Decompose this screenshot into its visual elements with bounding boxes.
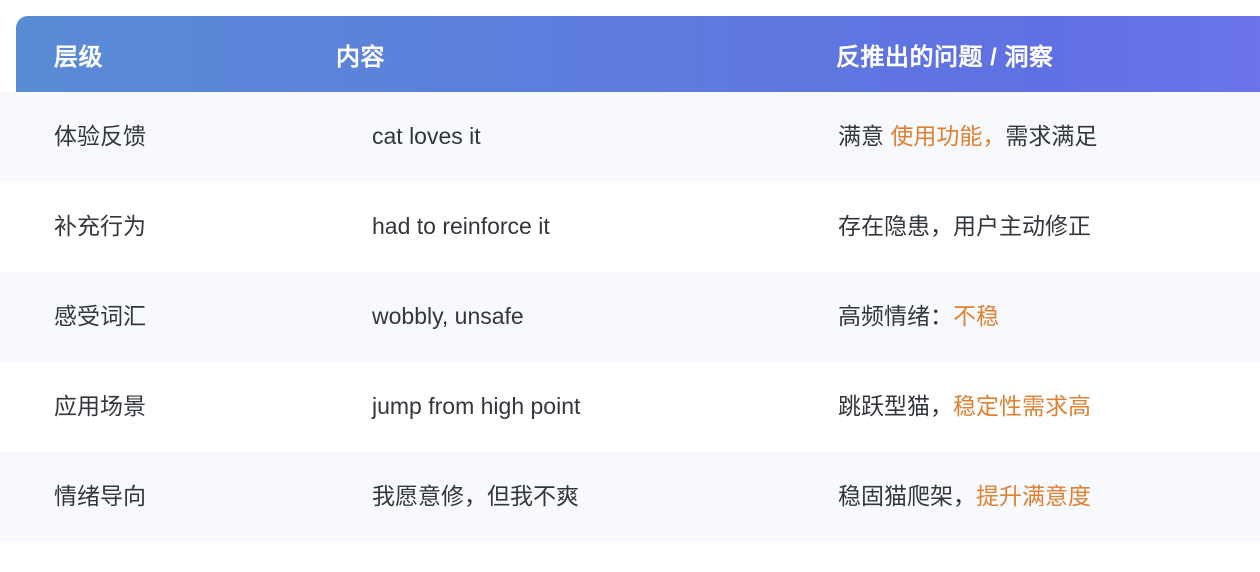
cell-level: 情绪导向 [0, 481, 320, 512]
column-header-level: 层级 [16, 37, 336, 72]
insight-text-highlight: 使用功能， [890, 123, 1005, 149]
table-header-row: 层级 内容 反推出的问题 / 洞察 [16, 16, 1260, 92]
table-row: 应用场景 jump from high point 跳跃型猫，稳定性需求高 [0, 362, 1260, 452]
cell-level: 体验反馈 [0, 121, 320, 152]
table-row: 体验反馈 cat loves it 满意 使用功能，需求满足 [0, 92, 1260, 182]
cell-insight: 高频情绪：不稳 [820, 301, 1260, 332]
cell-level: 应用场景 [0, 391, 320, 422]
table-row: 感受词汇 wobbly, unsafe 高频情绪：不稳 [0, 272, 1260, 362]
cell-level: 补充行为 [0, 211, 320, 242]
insight-text-pre: 高频情绪： [838, 303, 953, 329]
cell-level: 感受词汇 [0, 301, 320, 332]
insight-text-highlight: 不稳 [953, 303, 999, 329]
cell-insight: 满意 使用功能，需求满足 [820, 121, 1260, 152]
column-header-insight: 反推出的问题 / 洞察 [836, 37, 1260, 72]
cell-content: 我愿意修，但我不爽 [320, 481, 820, 512]
insight-text-pre: 稳固猫爬架， [838, 483, 976, 509]
cell-insight: 稳固猫爬架，提升满意度 [820, 481, 1260, 512]
cell-content: wobbly, unsafe [320, 301, 820, 332]
cell-content: cat loves it [320, 121, 820, 152]
table-row: 补充行为 had to reinforce it 存在隐患，用户主动修正 [0, 182, 1260, 272]
insight-text-highlight: 稳定性需求高 [953, 393, 1091, 419]
table-body: 体验反馈 cat loves it 满意 使用功能，需求满足 补充行为 had … [0, 92, 1260, 542]
column-header-content: 内容 [336, 37, 836, 72]
insight-text-post: 需求满足 [1005, 123, 1097, 149]
insight-text-pre: 满意 [838, 123, 890, 149]
insight-text-pre: 跳跃型猫， [838, 393, 953, 419]
insight-table: 层级 内容 反推出的问题 / 洞察 体验反馈 cat loves it 满意 使… [0, 0, 1260, 572]
cell-content: jump from high point [320, 391, 820, 422]
cell-insight: 跳跃型猫，稳定性需求高 [820, 391, 1260, 422]
insight-text-highlight: 提升满意度 [976, 483, 1091, 509]
cell-insight: 存在隐患，用户主动修正 [820, 211, 1260, 242]
cell-content: had to reinforce it [320, 211, 820, 242]
insight-text-pre: 存在隐患，用户主动修正 [838, 213, 1091, 239]
table-row: 情绪导向 我愿意修，但我不爽 稳固猫爬架，提升满意度 [0, 452, 1260, 542]
